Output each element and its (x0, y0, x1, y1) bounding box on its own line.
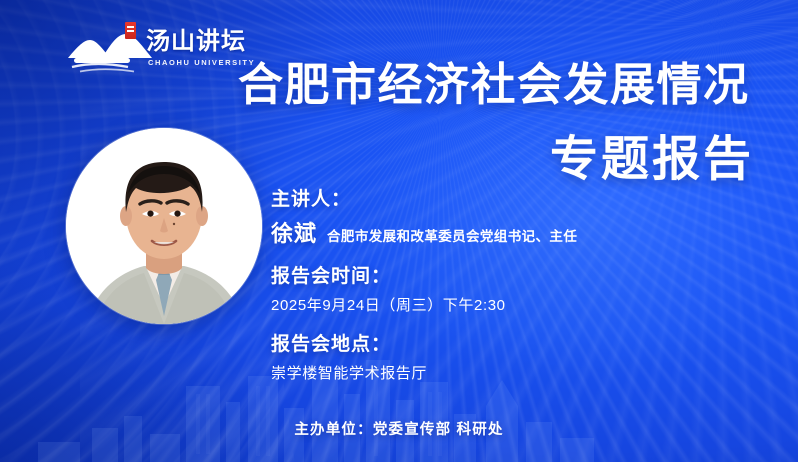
logo-name-cn: 汤山讲坛 (146, 30, 246, 54)
poster-title-line-1: 合肥市经济社会发展情况 (238, 62, 750, 107)
time-label: 报告会时间： (271, 267, 751, 286)
red-seal-icon (125, 22, 136, 39)
speaker-title: 合肥市发展和改革委员会党组书记、主任 (327, 230, 577, 244)
time-value: 2025年9月24日（周三）下午2:30 (271, 298, 751, 313)
venue-value: 崇学楼智能学术报告厅 (271, 366, 751, 381)
poster-title-line-2: 专题报告 (550, 136, 754, 184)
event-venue-group: 报告会地点： 崇学楼智能学术报告厅 (271, 335, 751, 381)
event-info: 主讲人： 徐斌 合肥市发展和改革委员会党组书记、主任 报告会时间： 2025年9… (271, 190, 751, 381)
brand-logo: 汤山讲坛 CHAOHU UNIVERSITY (62, 22, 242, 78)
speaker-row: 徐斌 合肥市发展和改革委员会党组书记、主任 (271, 223, 751, 245)
speaker-portrait (66, 128, 262, 324)
mountain-water-logo-icon (62, 24, 158, 74)
event-time-group: 报告会时间： 2025年9月24日（周三）下午2:30 (271, 267, 751, 313)
organizers-footer: 主办单位：党委宣传部 科研处 (0, 418, 798, 439)
speaker-name: 徐斌 (271, 223, 317, 245)
speaker-label: 主讲人： (271, 190, 751, 209)
event-poster: 汤山讲坛 CHAOHU UNIVERSITY (0, 0, 798, 462)
venue-label: 报告会地点： (271, 335, 751, 354)
